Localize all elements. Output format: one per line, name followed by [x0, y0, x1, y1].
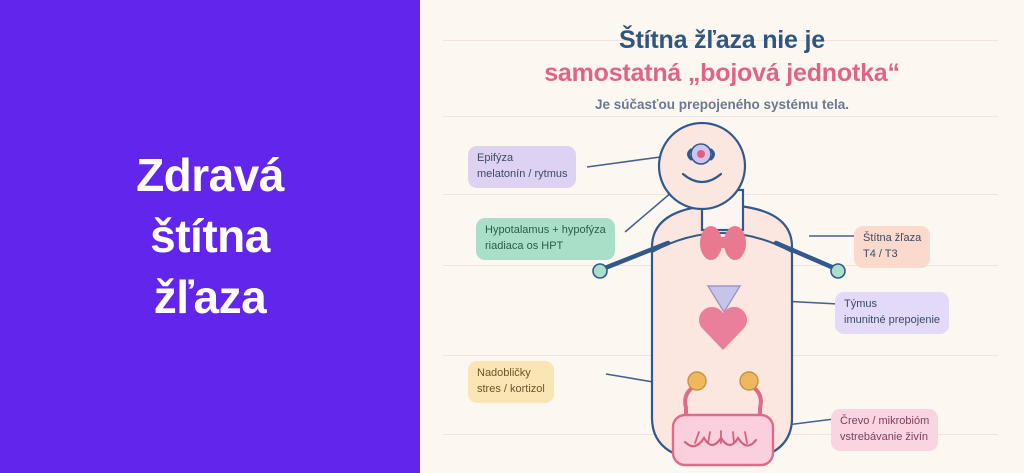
thyroid-isthmus: [717, 237, 729, 248]
callout-nadoblicky-line1: Nadobličky: [477, 367, 531, 379]
callout-hypotalamus-line1: Hypotalamus + hypofýza: [485, 224, 606, 236]
callout-hypotalamus-line2: riadiaca os HPT: [485, 239, 606, 255]
infographic-panel: Štítna žľaza nie je samostatná „bojová j…: [420, 0, 1024, 473]
callout-epifyza[interactable]: Epifýza melatonín / rytmus: [468, 146, 576, 188]
title-line-1: Zdravá: [136, 145, 284, 206]
callout-stitna-zlaza-line1: Štítna žľaza: [863, 232, 921, 244]
head-shape: [659, 123, 745, 209]
callout-tymus-line1: Týmus: [844, 298, 877, 310]
infographic-page: Zdravá štítna žľaza Štítna žľaza nie je …: [0, 0, 1024, 473]
right-adrenal-icon: [740, 372, 758, 390]
right-hand-icon: [831, 264, 845, 278]
page-title: Zdravá štítna žľaza: [136, 145, 284, 329]
left-hand-icon: [593, 264, 607, 278]
callout-tymus[interactable]: Týmus imunitné prepojenie: [835, 292, 949, 334]
left-adrenal-icon: [688, 372, 706, 390]
title-line-3: žľaza: [136, 267, 284, 328]
title-line-2: štítna: [136, 206, 284, 267]
callout-crevo[interactable]: Črevo / mikrobióm vstrebávanie živín: [831, 409, 938, 451]
left-title-panel: Zdravá štítna žľaza: [0, 0, 420, 473]
pineal-gland-core-icon: [697, 150, 705, 158]
callout-stitna-zlaza[interactable]: Štítna žľaza T4 / T3: [854, 226, 930, 268]
callout-tymus-line2: imunitné prepojenie: [844, 313, 940, 329]
callout-epifyza-line2: melatonín / rytmus: [477, 167, 567, 183]
callout-hypotalamus[interactable]: Hypotalamus + hypofýza riadiaca os HPT: [476, 218, 615, 260]
callout-epifyza-line1: Epifýza: [477, 152, 513, 164]
callout-crevo-line1: Črevo / mikrobióm: [840, 415, 929, 427]
callout-crevo-line2: vstrebávanie živín: [840, 430, 929, 446]
callout-nadoblicky-line2: stres / kortizol: [477, 382, 545, 398]
callout-nadoblicky[interactable]: Nadobličky stres / kortizol: [468, 361, 554, 403]
callout-stitna-zlaza-line2: T4 / T3: [863, 247, 921, 263]
